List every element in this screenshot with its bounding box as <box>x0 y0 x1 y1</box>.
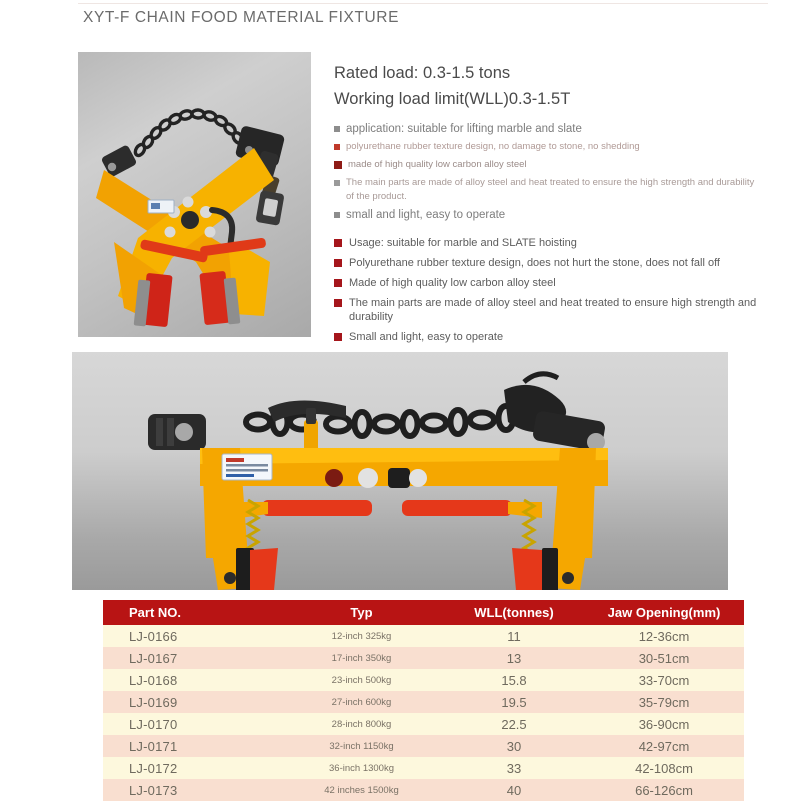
top-divider <box>78 3 768 4</box>
cell-wll: 11 <box>444 625 584 647</box>
feature-text: The main parts are made of alloy steel a… <box>346 176 764 204</box>
specification-table: Part NO. Typ WLL(tonnes) Jaw Opening(mm)… <box>103 600 744 801</box>
table-body: LJ-0166 12-inch 325kg 11 12-36cm LJ-0167… <box>103 625 744 801</box>
feature-item: small and light, easy to operate <box>334 208 764 222</box>
cell-jaw: 36-90cm <box>584 713 744 735</box>
feature-text: The main parts are made of alloy steel a… <box>349 296 764 324</box>
bullet-square-icon <box>334 239 342 247</box>
feature-list-gray: application: suitable for lifting marble… <box>334 122 764 226</box>
cell-wll: 19.5 <box>444 691 584 713</box>
feature-text: made of high quality low carbon alloy st… <box>348 158 527 172</box>
page-title: XYT-F CHAIN FOOD MATERIAL FIXTURE <box>83 9 399 27</box>
cell-jaw: 30-51cm <box>584 647 744 669</box>
table-row: LJ-0169 27-inch 600kg 19.5 35-79cm <box>103 691 744 713</box>
table-row: LJ-0170 28-inch 800kg 22.5 36-90cm <box>103 713 744 735</box>
product-photo-scissor-clamp <box>78 52 311 337</box>
feature-item: Small and light, easy to operate <box>334 330 764 344</box>
feature-item: Made of high quality low carbon alloy st… <box>334 276 764 290</box>
bullet-square-icon <box>334 212 340 218</box>
feature-text: small and light, easy to operate <box>346 208 505 222</box>
bullet-square-icon <box>334 279 342 287</box>
cell-jaw: 35-79cm <box>584 691 744 713</box>
cell-typ: 17-inch 350kg <box>279 647 444 669</box>
feature-item: Polyurethane rubber texture design, does… <box>334 256 764 270</box>
cell-wll: 22.5 <box>444 713 584 735</box>
feature-text: Small and light, easy to operate <box>349 330 503 344</box>
cell-typ: 36-inch 1300kg <box>279 757 444 779</box>
table-header-row: Part NO. Typ WLL(tonnes) Jaw Opening(mm) <box>103 600 744 625</box>
table-row: LJ-0167 17-inch 350kg 13 30-51cm <box>103 647 744 669</box>
feature-item: polyurethane rubber texture design, no d… <box>334 140 764 154</box>
table-row: LJ-0168 23-inch 500kg 15.8 33-70cm <box>103 669 744 691</box>
clamp-illustration-1 <box>78 52 311 337</box>
table-row: LJ-0166 12-inch 325kg 11 12-36cm <box>103 625 744 647</box>
cell-typ: 42 inches 1500kg <box>279 779 444 801</box>
cell-wll: 33 <box>444 757 584 779</box>
bullet-square-icon <box>334 259 342 267</box>
cell-jaw: 42-97cm <box>584 735 744 757</box>
bullet-square-icon <box>334 144 340 150</box>
column-header-wll: WLL(tonnes) <box>444 600 584 625</box>
feature-item: Usage: suitable for marble and SLATE hoi… <box>334 236 764 250</box>
cell-wll: 13 <box>444 647 584 669</box>
cell-wll: 15.8 <box>444 669 584 691</box>
cell-part-no: LJ-0173 <box>103 779 279 801</box>
cell-typ: 23-inch 500kg <box>279 669 444 691</box>
table-header: Part NO. Typ WLL(tonnes) Jaw Opening(mm) <box>103 600 744 625</box>
feature-item: The main parts are made of alloy steel a… <box>334 296 764 324</box>
cell-jaw: 66-126cm <box>584 779 744 801</box>
bullet-square-icon <box>334 126 340 132</box>
bullet-square-icon <box>334 161 342 169</box>
cell-typ: 27-inch 600kg <box>279 691 444 713</box>
bullet-square-icon <box>334 333 342 341</box>
table-row: LJ-0173 42 inches 1500kg 40 66-126cm <box>103 779 744 801</box>
feature-item: made of high quality low carbon alloy st… <box>334 158 764 172</box>
bullet-square-icon <box>334 180 340 186</box>
feature-text: application: suitable for lifting marble… <box>346 122 582 136</box>
cell-part-no: LJ-0171 <box>103 735 279 757</box>
cell-wll: 40 <box>444 779 584 801</box>
wll-line: Working load limit(WLL)0.3-1.5T <box>334 86 570 112</box>
feature-text: polyurethane rubber texture design, no d… <box>346 140 640 154</box>
cell-typ: 12-inch 325kg <box>279 625 444 647</box>
bullet-square-icon <box>334 299 342 307</box>
feature-text: Polyurethane rubber texture design, does… <box>349 256 720 270</box>
cell-part-no: LJ-0166 <box>103 625 279 647</box>
table-row: LJ-0171 32-inch 1150kg 30 42-97cm <box>103 735 744 757</box>
cell-wll: 30 <box>444 735 584 757</box>
cell-typ: 28-inch 800kg <box>279 713 444 735</box>
feature-item: The main parts are made of alloy steel a… <box>334 176 764 204</box>
feature-text: Made of high quality low carbon alloy st… <box>349 276 556 290</box>
rated-load-line: Rated load: 0.3-1.5 tons <box>334 60 570 86</box>
column-header-part-no: Part NO. <box>103 600 279 625</box>
feature-item: application: suitable for lifting marble… <box>334 122 764 136</box>
product-photo-clamp-wide <box>72 352 728 590</box>
clamp-illustration-2 <box>72 352 728 590</box>
cell-typ: 32-inch 1150kg <box>279 735 444 757</box>
cell-jaw: 33-70cm <box>584 669 744 691</box>
feature-text: Usage: suitable for marble and SLATE hoi… <box>349 236 577 250</box>
cell-jaw: 42-108cm <box>584 757 744 779</box>
column-header-typ: Typ <box>279 600 444 625</box>
cell-jaw: 12-36cm <box>584 625 744 647</box>
cell-part-no: LJ-0167 <box>103 647 279 669</box>
cell-part-no: LJ-0172 <box>103 757 279 779</box>
table-row: LJ-0172 36-inch 1300kg 33 42-108cm <box>103 757 744 779</box>
feature-list-red: Usage: suitable for marble and SLATE hoi… <box>334 236 764 350</box>
rated-load-block: Rated load: 0.3-1.5 tons Working load li… <box>334 60 570 112</box>
cell-part-no: LJ-0169 <box>103 691 279 713</box>
column-header-jaw-opening: Jaw Opening(mm) <box>584 600 744 625</box>
cell-part-no: LJ-0170 <box>103 713 279 735</box>
cell-part-no: LJ-0168 <box>103 669 279 691</box>
